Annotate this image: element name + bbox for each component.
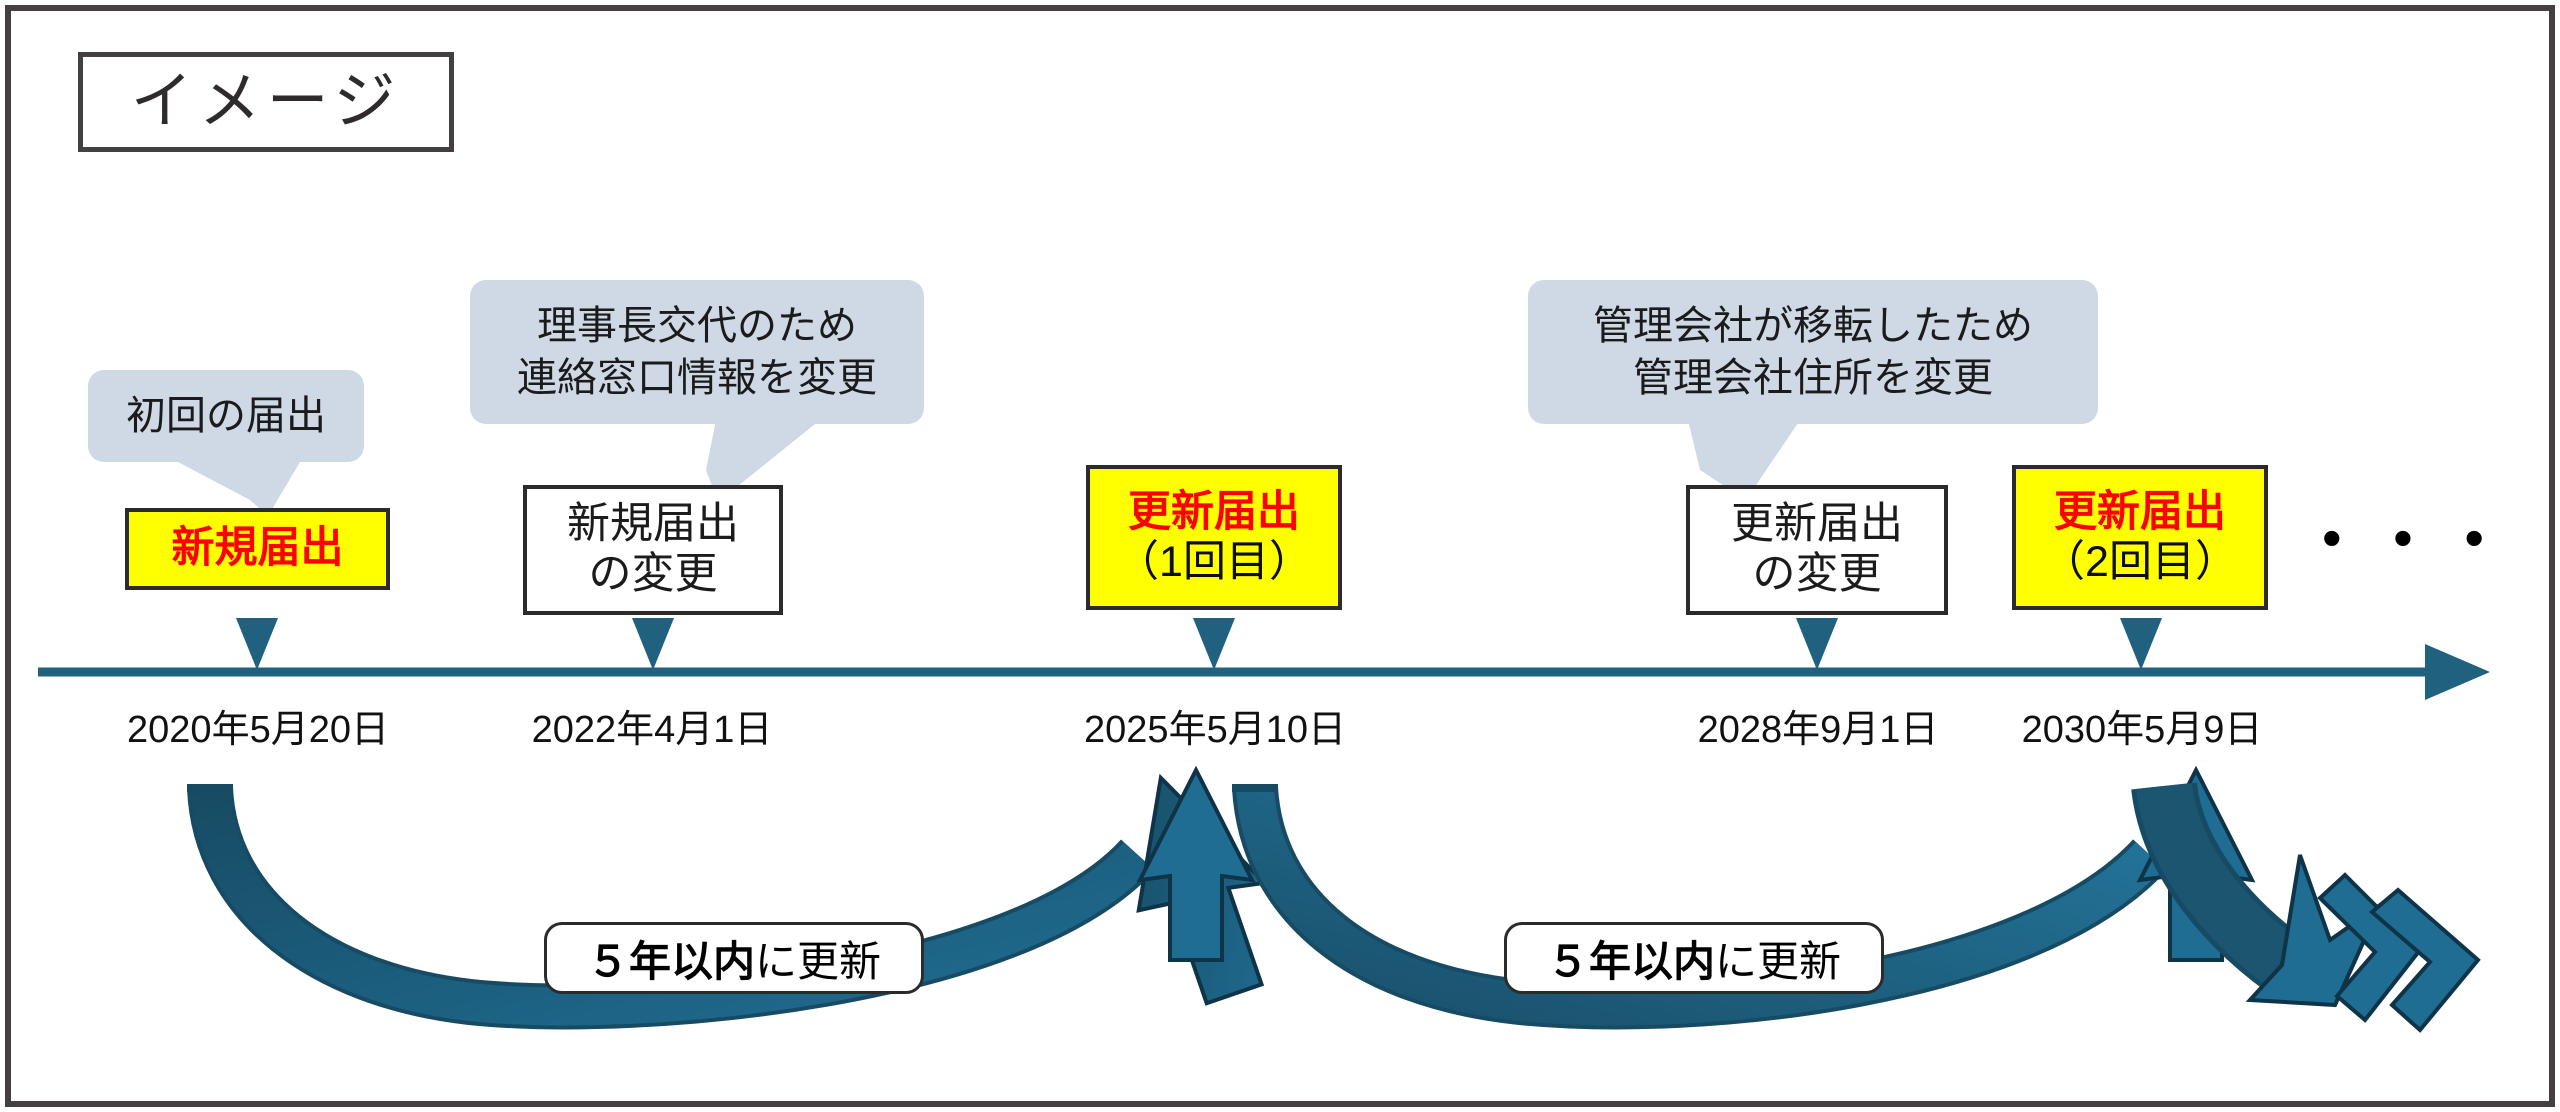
renewal-label-2: ５年以内 に更新 [1504, 922, 1884, 994]
renewal-label-strong: ５年以内 [1547, 928, 1715, 989]
diagram-canvas: イメージ 初回の届出 理事長交代のため 連絡窓口情報を変更 管理会社が移転したた… [0, 0, 2560, 1112]
date-label-2030: 2030年5月9日 [2022, 698, 2263, 753]
date-label-2028: 2028年9月1日 [1698, 698, 1939, 753]
renewal-label-rest: に更新 [1715, 928, 1841, 989]
time-axis [0, 0, 2560, 1112]
renewal-label-strong: ５年以内 [587, 928, 755, 989]
date-label-2022: 2022年4月1日 [532, 698, 773, 753]
date-label-2025: 2025年5月10日 [1084, 698, 1346, 753]
renewal-label-1: ５年以内 に更新 [544, 922, 924, 994]
date-label-2020: 2020年5月20日 [127, 698, 389, 753]
renewal-label-rest: に更新 [755, 928, 881, 989]
